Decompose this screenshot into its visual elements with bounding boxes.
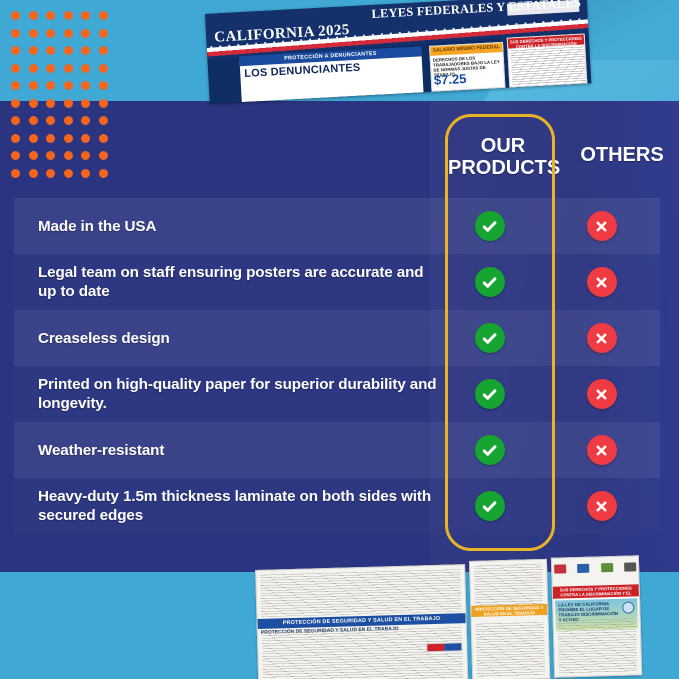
- dot: [81, 64, 90, 73]
- poster-text-lines: [260, 569, 461, 617]
- agency-logo-icon: [601, 563, 613, 572]
- cell-our-products: [436, 379, 543, 409]
- poster-text-lines: [510, 47, 586, 87]
- table-row: Legal team on staff ensuring posters are…: [14, 254, 660, 310]
- cell-others: [543, 379, 660, 409]
- cell-our-products: [436, 323, 543, 353]
- check-icon: [475, 491, 505, 521]
- dot: [29, 29, 38, 38]
- poster-text-lines-lower: [476, 622, 545, 678]
- check-icon: [475, 379, 505, 409]
- cross-icon: [587, 435, 617, 465]
- table-row: Weather-resistant: [14, 422, 660, 478]
- feature-label: Made in the USA: [14, 217, 436, 236]
- comparison-table: OUR PRODUCTS OTHERS Made in the USALegal…: [14, 113, 660, 534]
- feature-label: Heavy-duty 1.5m thickness laminate on bo…: [14, 487, 436, 525]
- dot: [29, 46, 38, 55]
- dot: [99, 99, 108, 108]
- dot: [11, 29, 20, 38]
- dot: [11, 46, 20, 55]
- dot: [29, 11, 38, 20]
- dot: [11, 81, 20, 90]
- table-row: Made in the USA: [14, 198, 660, 254]
- cell-others: [543, 435, 660, 465]
- dot: [99, 64, 108, 73]
- dot: [29, 64, 38, 73]
- feature-label: Creaseless design: [14, 329, 436, 348]
- cross-icon: [587, 323, 617, 353]
- dot: [64, 11, 73, 20]
- cell-our-products: [436, 491, 543, 521]
- poster-text-lines: [474, 564, 543, 608]
- table-row: Creaseless design: [14, 310, 660, 366]
- cross-icon: [587, 491, 617, 521]
- check-icon: [475, 211, 505, 241]
- poster-bottom-worker-rights: PROTECCIÓN DE SEGURIDAD Y SALUD EN EL TR…: [469, 559, 550, 679]
- dot: [46, 99, 55, 108]
- cell-others: [543, 491, 660, 521]
- feature-label: Printed on high-quality paper for superi…: [14, 375, 436, 413]
- column-header-our-products-line2: PRODUCTS: [448, 157, 558, 179]
- agency-logo-icon: [624, 562, 636, 571]
- check-icon: [475, 323, 505, 353]
- dot: [29, 99, 38, 108]
- check-icon: [475, 435, 505, 465]
- poster-agency-logos: [554, 559, 636, 575]
- dot: [99, 81, 108, 90]
- dot: [64, 99, 73, 108]
- dot: [81, 99, 90, 108]
- table-header-row: OUR PRODUCTS OTHERS: [14, 113, 660, 198]
- cross-icon: [587, 267, 617, 297]
- poster-orange-banner: PROTECCIÓN DE SEGURIDAD Y SALUD EN EL TR…: [471, 604, 547, 617]
- cell-others: [543, 267, 660, 297]
- cell-our-products: [436, 267, 543, 297]
- feature-label: Weather-resistant: [14, 441, 436, 460]
- cell-our-products: [436, 435, 543, 465]
- state-seal-icon: [622, 601, 634, 613]
- check-icon: [475, 267, 505, 297]
- poster-bottom-discrimination: SUS DERECHOS Y PROTECCIONES CONTRA LA DI…: [551, 555, 642, 677]
- agency-logo-icon: [577, 563, 589, 572]
- cell-others: [543, 211, 660, 241]
- dot: [46, 81, 55, 90]
- dot: [29, 81, 38, 90]
- cross-icon: [587, 211, 617, 241]
- poster-discrimination-box: SUS DERECHOS Y PROTECCIONES CONTRA LA DI…: [507, 33, 588, 87]
- comparison-infographic: CALIFORNIA 2025 LEYES FEDERALES Y ESTATA…: [0, 0, 679, 679]
- cross-icon: [587, 379, 617, 409]
- dot: [99, 29, 108, 38]
- agency-logo-icon: [554, 564, 566, 573]
- dot: [99, 46, 108, 55]
- dot: [81, 46, 90, 55]
- column-header-others: OTHERS: [562, 144, 679, 166]
- poster-bottom-safety-health: PROTECCIÓN DE SEGURIDAD Y SALUD EN EL TR…: [255, 564, 468, 679]
- feature-label: Legal team on staff ensuring posters are…: [14, 263, 436, 301]
- poster-wage-amount: $7.25: [434, 71, 467, 88]
- dot: [46, 11, 55, 20]
- column-header-our-products-line1: OUR: [448, 135, 558, 157]
- dot: [46, 64, 55, 73]
- poster-red-banner: SUS DERECHOS Y PROTECCIONES CONTRA LA DI…: [553, 584, 639, 598]
- poster-text-lines-lower: [558, 618, 637, 674]
- poster-flag-tag: [426, 642, 462, 652]
- dot: [46, 29, 55, 38]
- dot: [64, 29, 73, 38]
- dot: [81, 81, 90, 90]
- dot: [99, 11, 108, 20]
- dot: [81, 29, 90, 38]
- dot: [64, 81, 73, 90]
- poster-group-bottom: PROTECCIÓN DE SEGURIDAD Y SALUD EN EL TR…: [255, 554, 679, 679]
- dot: [64, 46, 73, 55]
- dot: [11, 99, 20, 108]
- dot: [11, 64, 20, 73]
- table-row: Heavy-duty 1.5m thickness laminate on bo…: [14, 478, 660, 534]
- cell-our-products: [436, 211, 543, 241]
- column-header-our-products: OUR PRODUCTS: [448, 135, 558, 180]
- table-row: Printed on high-quality paper for superi…: [14, 366, 660, 422]
- poster-wage-box: SALARIO MÍNIMO FEDERAL DERECHOS DE LOS T…: [429, 42, 505, 92]
- dot: [81, 11, 90, 20]
- poster-text-lines-lower: [262, 627, 463, 679]
- dot: [46, 46, 55, 55]
- cell-others: [543, 323, 660, 353]
- dot: [64, 64, 73, 73]
- dot: [11, 11, 20, 20]
- table-body: Made in the USALegal team on staff ensur…: [14, 198, 660, 534]
